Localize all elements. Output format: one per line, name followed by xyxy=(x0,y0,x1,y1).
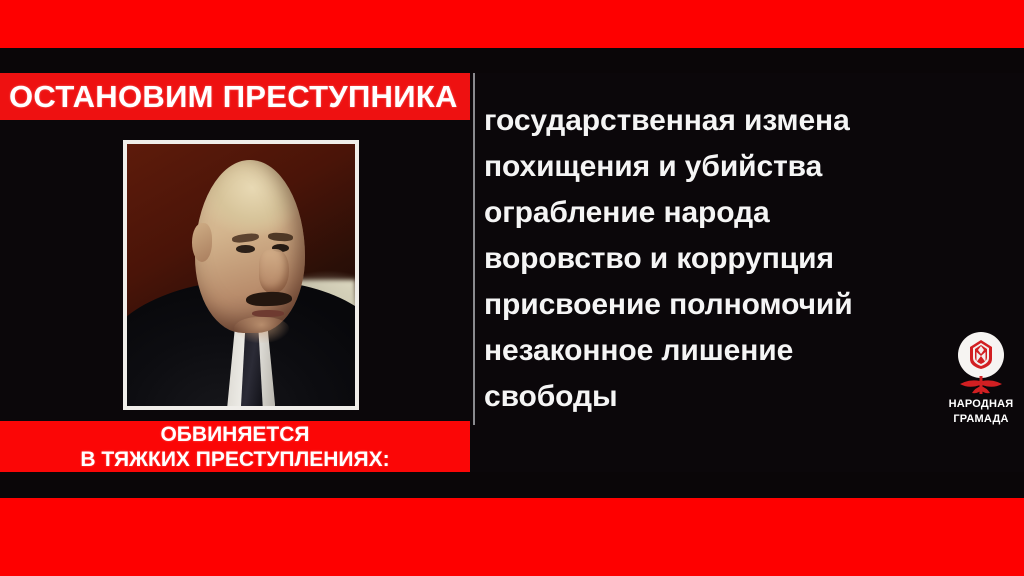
portrait-nose xyxy=(259,249,289,294)
bottom-black-separator xyxy=(0,472,1024,498)
party-logo: НАРОДНАЯ ГРАМАДА xyxy=(944,332,1018,426)
column-divider xyxy=(473,73,475,425)
accusation-list: государственная измена похищения и убийс… xyxy=(484,98,1004,420)
accusation-item: незаконное лишение xyxy=(484,328,1004,374)
accusation-item: свободы xyxy=(484,374,1004,420)
accusation-item: похищения и убийства xyxy=(484,144,1004,190)
top-black-separator xyxy=(0,48,1024,73)
rose-emblem-icon xyxy=(958,332,1004,378)
caption-line-1: ОБВИНЯЕТСЯ xyxy=(160,422,309,447)
accusation-item: присвоение полномочий xyxy=(484,282,1004,328)
caption-banner: ОБВИНЯЕТСЯ В ТЯЖКИХ ПРЕСТУПЛЕНИЯХ: xyxy=(0,421,470,472)
headline-banner: ОСТАНОВИМ ПРЕСТУПНИКА xyxy=(0,73,470,120)
headline-text: ОСТАНОВИМ ПРЕСТУПНИКА xyxy=(0,79,458,115)
top-red-band xyxy=(0,0,1024,48)
caption-line-2: В ТЯЖКИХ ПРЕСТУПЛЕНИЯХ: xyxy=(80,447,389,472)
portrait-image xyxy=(127,144,355,406)
rose-leaves-icon xyxy=(955,374,1007,396)
logo-name-line-2: ГРАМАДА xyxy=(953,413,1008,426)
rose-bloom-icon xyxy=(968,339,994,370)
portrait-left-eye xyxy=(236,245,254,253)
portrait-chin xyxy=(234,317,289,343)
poster-canvas: ОСТАНОВИМ ПРЕСТУПНИКА государственная из… xyxy=(0,0,1024,576)
accusation-item: государственная измена xyxy=(484,98,1004,144)
accusation-item: ограбление народа xyxy=(484,190,1004,236)
portrait-frame xyxy=(123,140,359,410)
accusation-item: воровство и коррупция xyxy=(484,236,1004,282)
logo-name-line-1: НАРОДНАЯ xyxy=(949,398,1014,411)
bottom-red-band xyxy=(0,498,1024,576)
